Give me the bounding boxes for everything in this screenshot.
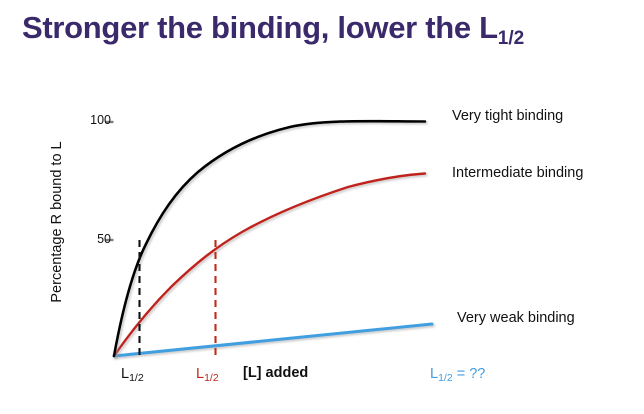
l-half-label-weak-base: L [430, 366, 438, 382]
page-title-main: Stronger the binding, lower the L [22, 10, 498, 45]
l-half-label-weak-sub: 1/2 [438, 372, 453, 384]
l-half-label-weak: L1/2 = ?? [430, 366, 485, 382]
page-title-subscript: 1/2 [498, 28, 524, 49]
l-half-label-intermediate: L1/2 [196, 366, 219, 382]
l-half-label-tight-sub: 1/2 [129, 372, 144, 384]
curve-very-weak-binding [114, 324, 432, 356]
l-half-label-intermediate-sub: 1/2 [204, 372, 219, 384]
y-tick-label-50: 50 [77, 232, 111, 246]
binding-curve-figure: Percentage R bound to L 100 50 Very tigh… [0, 60, 644, 414]
slide-canvas: Stronger the binding, lower the L1/2 [0, 0, 644, 414]
page-title: Stronger the binding, lower the L1/2 [22, 10, 632, 46]
legend-label-very-tight-binding: Very tight binding [452, 108, 563, 124]
curve-very-tight-binding [114, 121, 425, 356]
y-axis-label: Percentage R bound to L [49, 127, 65, 317]
legend-label-intermediate-binding: Intermediate binding [452, 165, 583, 181]
l-half-label-weak-value: = ?? [453, 366, 486, 382]
l-half-label-intermediate-base: L [196, 366, 204, 382]
l-half-label-tight: L1/2 [121, 366, 144, 382]
y-tick-label-100: 100 [77, 113, 111, 127]
l-half-label-tight-base: L [121, 366, 129, 382]
x-axis-label: [L] added [243, 365, 308, 381]
legend-label-very-weak-binding: Very weak binding [457, 310, 575, 326]
